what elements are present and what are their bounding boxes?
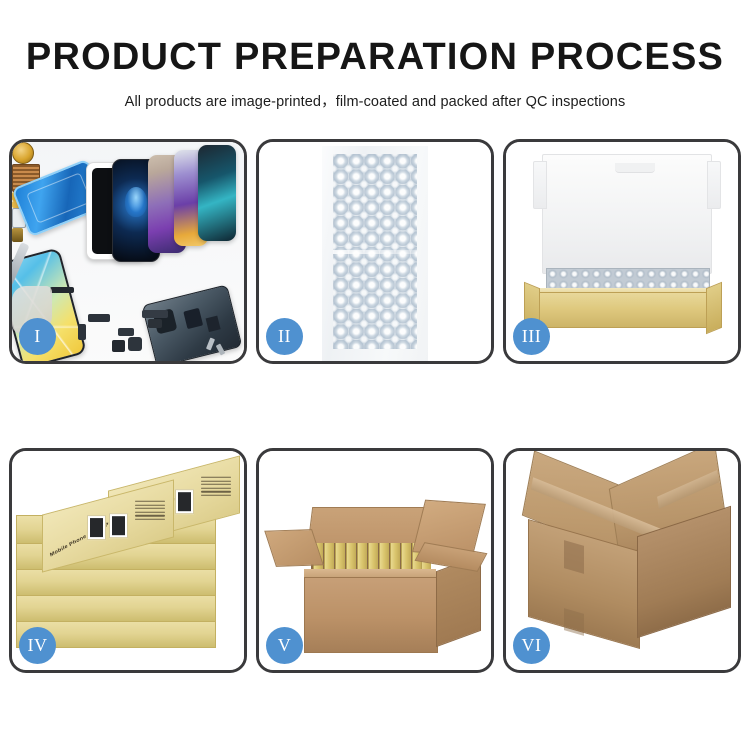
vibrator-motor-part [12,228,23,242]
bubble-pouch-film [333,154,417,349]
step-badge-1: I [19,318,56,355]
page-title: PRODUCT PREPARATION PROCESS [0,38,750,76]
flex-cable-part-c [88,314,110,322]
connector-part-a [112,340,125,352]
carton-tape-tab-upper [564,540,584,574]
flex-cable-part-e [142,310,168,318]
step-badge-3: III [513,318,550,355]
box-front-wall [535,292,721,328]
flex-cable-part-d [78,324,86,340]
product-preparation-infographic: PRODUCT PREPARATION PROCESS All products… [0,0,750,750]
step-panel-6: VI [503,448,741,673]
header: PRODUCT PREPARATION PROCESS All products… [0,0,750,111]
wireless-charging-coil-part [12,142,34,164]
step-panel-1: I [9,139,247,364]
carton-front-wall [304,577,438,653]
box-lid-flap [542,154,712,274]
step-panel-5: V [256,448,494,673]
phone-display-teal [198,145,236,241]
step-badge-2: II [266,318,303,355]
step-panel-3: III [503,139,741,364]
carton-tape-tab-lower [564,608,584,636]
box-lid-notch [615,163,655,173]
box-label-phone-image-front-a [87,515,106,540]
step-panel-4: Mobile Phone Spare Parts Mobile Phone Sp… [9,448,247,673]
step-badge-4: IV [19,627,56,664]
box-right-wall [706,282,722,334]
box-label-phone-image-front-b [109,513,128,538]
page-subtitle: All products are image-printed，film-coat… [0,90,750,111]
box-label-phone-image-rear-b [175,489,194,514]
steps-grid: I II [9,139,741,684]
box-label-spec-lines-front [135,501,165,522]
pouch-seam [333,250,417,254]
connector-part-b [128,337,142,351]
step-badge-5: V [266,627,303,664]
step-panel-2: II [256,139,494,364]
box-label-spec-lines-rear [201,477,231,498]
earpiece-speaker-part [50,287,74,293]
stacked-box-4 [16,593,216,622]
step-badge-6: VI [513,627,550,664]
flex-cable-part-f [148,319,162,328]
connector-part-c [118,328,134,336]
